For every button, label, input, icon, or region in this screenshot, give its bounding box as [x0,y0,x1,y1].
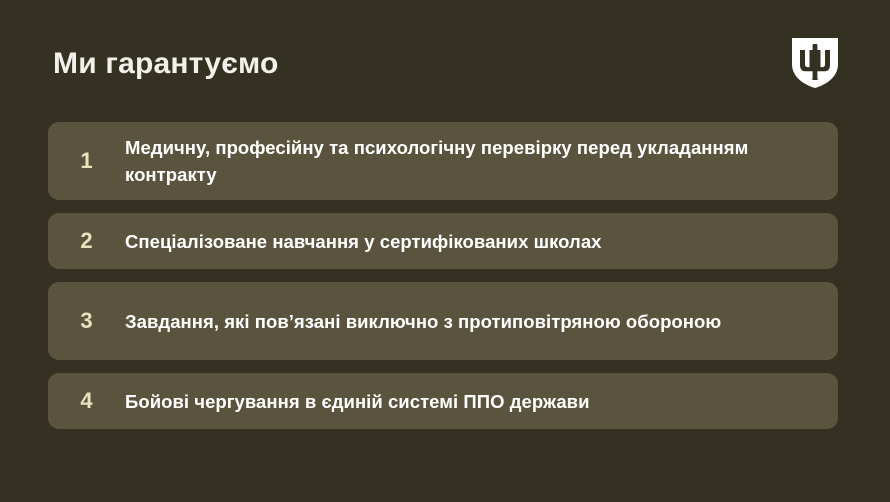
list-item-number: 2 [48,230,125,252]
list-item-number: 4 [48,390,125,412]
list-item[interactable]: 3 Завдання, які пов’язані виключно з про… [48,282,838,360]
list-item-text: Спеціалізоване навчання у сертифікованих… [125,228,838,255]
list-item[interactable]: 2 Спеціалізоване навчання у сертифікован… [48,213,838,269]
guarantee-list: 1 Медичну, професійну та психологічну пе… [48,122,838,442]
list-item-text: Бойові чергування в єдиній системі ППО д… [125,388,838,415]
list-item-number: 3 [48,310,125,332]
slide-root: Ми гарантуємо 1 Медичну, професійну та п… [0,0,890,502]
list-item[interactable]: 1 Медичну, професійну та психологічну пе… [48,122,838,200]
page-title: Ми гарантуємо [53,46,279,82]
ukraine-trident-shield-icon [792,38,838,88]
list-item-number: 1 [48,150,125,172]
list-item[interactable]: 4 Бойові чергування в єдиній системі ППО… [48,373,838,429]
list-item-text: Медичну, професійну та психологічну пере… [125,134,838,188]
slide-header: Ми гарантуємо [0,0,890,110]
list-item-text: Завдання, які пов’язані виключно з проти… [125,308,838,335]
